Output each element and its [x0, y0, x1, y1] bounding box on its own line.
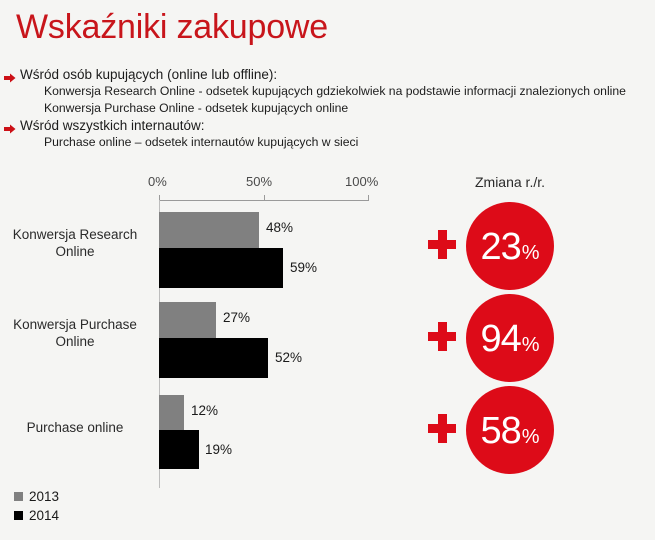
- percent-symbol: %: [522, 243, 540, 263]
- tick-mark-50: [264, 195, 265, 201]
- bar-value-2014: 19%: [205, 442, 232, 457]
- bar-2013: [159, 212, 259, 248]
- axis-tick-label-0: 0%: [148, 174, 167, 189]
- change-column: Zmiana r./r. 23 % 94 % 58 %: [410, 168, 655, 498]
- change-item: 58 %: [410, 386, 610, 478]
- change-value: 58: [480, 412, 520, 450]
- bullet-subitem: Purchase online – odsetek internautów ku…: [4, 134, 652, 151]
- change-item: 94 %: [410, 294, 610, 386]
- legend-swatch-icon: [14, 492, 23, 501]
- bar-2013: [159, 302, 216, 338]
- legend-item-2013: 2013: [14, 487, 59, 506]
- bullet-subitem: Konwersja Purchase Online - odsetek kupu…: [4, 100, 652, 117]
- bar-group: Konwersja Research Online 48% 59%: [0, 208, 400, 288]
- axis-tick-label-100: 100%: [345, 174, 378, 189]
- bar-2014: [159, 430, 199, 469]
- chart-legend: 2013 2014: [14, 487, 59, 525]
- percent-symbol: %: [522, 335, 540, 355]
- red-arrow-icon: [4, 117, 20, 138]
- bar-2013: [159, 395, 184, 430]
- bar-2014: [159, 338, 268, 378]
- change-badge: 23 %: [466, 202, 554, 290]
- legend-item-2014: 2014: [14, 506, 59, 525]
- bar-2014: [159, 248, 283, 288]
- plus-icon: [428, 230, 458, 260]
- legend-label: 2013: [29, 489, 59, 504]
- bar-value-2013: 27%: [223, 310, 250, 325]
- bullet-item: Wśród wszystkich internautów:: [4, 117, 652, 134]
- change-badge: 94 %: [466, 294, 554, 382]
- bullet-list: Wśród osób kupujących (online lub offlin…: [4, 66, 652, 151]
- change-column-header: Zmiana r./r.: [410, 174, 610, 190]
- bar-group-label: Purchase online: [0, 419, 150, 436]
- change-value: 23: [480, 228, 520, 266]
- bar-value-2014: 59%: [290, 260, 317, 275]
- axis-tick-label-50: 50%: [246, 174, 272, 189]
- bar-group-label: Konwersja Research Online: [0, 226, 150, 260]
- percent-symbol: %: [522, 427, 540, 447]
- page-title: Wskaźniki zakupowe: [16, 8, 328, 47]
- bar-group: Konwersja Purchase Online 27% 52%: [0, 298, 400, 378]
- bar-group-label: Konwersja Purchase Online: [0, 316, 150, 350]
- bar-value-2013: 12%: [191, 403, 218, 418]
- legend-swatch-icon: [14, 511, 23, 520]
- plus-icon: [428, 322, 458, 352]
- plus-icon: [428, 414, 458, 444]
- change-badge: 58 %: [466, 386, 554, 474]
- bullet-subitem: Konwersja Research Online - odsetek kupu…: [4, 83, 652, 100]
- tick-mark-100: [368, 195, 369, 201]
- bar-chart: 0% 50% 100% Konwersja Research Online 48…: [0, 168, 400, 498]
- bar-value-2014: 52%: [275, 350, 302, 365]
- bullet-label: Wśród wszystkich internautów:: [20, 117, 205, 134]
- red-arrow-icon: [4, 66, 20, 87]
- bullet-item: Wśród osób kupujących (online lub offlin…: [4, 66, 652, 83]
- change-value: 94: [480, 320, 520, 358]
- bar-group: Purchase online 12% 19%: [0, 391, 400, 467]
- change-item: 23 %: [410, 202, 610, 294]
- legend-label: 2014: [29, 508, 59, 523]
- bar-value-2013: 48%: [266, 220, 293, 235]
- bullet-label: Wśród osób kupujących (online lub offlin…: [20, 66, 277, 83]
